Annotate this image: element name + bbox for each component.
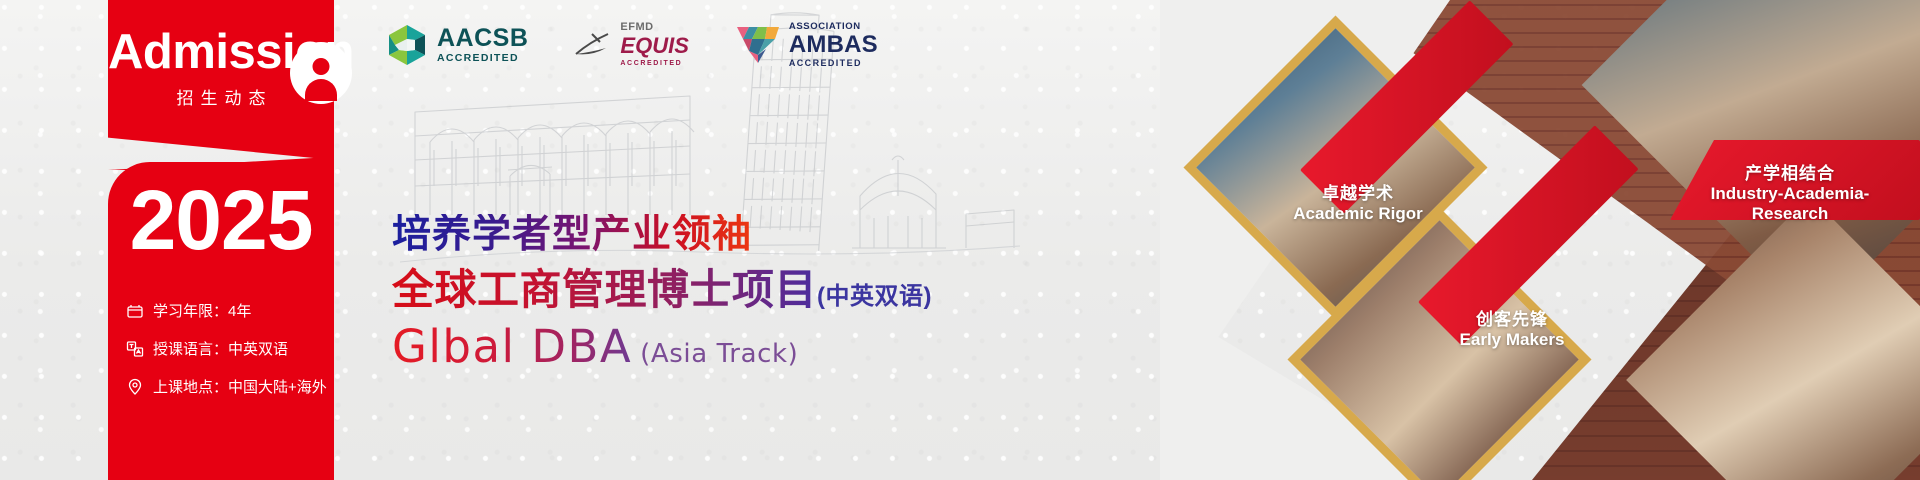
aacsb-logo: AACSB ACCREDITED [385,23,528,67]
equis-logo: EFMD EQUIS ACCREDITED [574,22,688,67]
equis-main-label: EQUIS [620,35,688,57]
amba-sub-label: ACCREDITED [789,59,878,68]
efmd-label: EFMD [620,22,688,33]
year-label: 2025 [108,178,334,262]
aacsb-sub-label: ACCREDITED [437,53,528,64]
aacsb-main-label: AACSB [437,26,528,51]
admission-banner: AACSB ACCREDITED EFMD EQUIS ACCREDITED [0,0,1920,480]
program-title-cn: 全球工商管理博士项目(中英双语) [392,268,1032,312]
calendar-icon [126,302,144,320]
label-plate-industry [1670,140,1920,220]
left-red-panel: Admission 招生动态 2025 学习年限：4年 [108,0,334,480]
red-panel-top-shape [108,0,334,160]
info-row-language: 授课语言：中英双语 [126,338,334,359]
tagline: 培养学者型产业领袖 [392,214,1032,257]
aacsb-cube-icon [385,23,429,67]
info-row-location-label: 上课地点：中国大陆+海外 [153,376,327,397]
info-row-language-label: 授课语言：中英双语 [153,338,288,359]
location-pin-icon [126,378,144,396]
info-row-duration: 学习年限：4年 [126,300,334,321]
amba-main-label: AMBAS [789,33,878,57]
info-row-location: 上课地点：中国大陆+海外 [126,376,334,397]
efmd-swoosh-icon [574,30,612,60]
program-title-en-suffix: (Asia Track) [640,339,798,369]
equis-sub-label: ACCREDITED [620,60,688,67]
amba-logo: ASSOCIATION AMBAS ACCREDITED [735,22,878,68]
info-row-duration-label: 学习年限：4年 [153,300,251,321]
language-icon [126,340,144,358]
headline-block: 培养学者型产业领袖 全球工商管理博士项目(中英双语) Glbal DBA(Asi… [392,214,1032,369]
program-title-en: Glbal DBA(Asia Track) [392,324,1032,369]
program-info-list: 学习年限：4年 授课语言：中英双语 [126,300,334,414]
accreditation-logos: AACSB ACCREDITED EFMD EQUIS ACCREDITED [385,22,878,68]
photo-collage: 卓越学术 Academic Rigor 产学相结合 Industry-Acade… [1160,0,1920,480]
amba-diamond-icon [735,23,781,67]
program-title-cn-suffix: (中英双语) [817,283,932,310]
program-title-en-main: Glbal DBA [392,320,632,373]
program-title-cn-main: 全球工商管理博士项目 [392,266,817,313]
